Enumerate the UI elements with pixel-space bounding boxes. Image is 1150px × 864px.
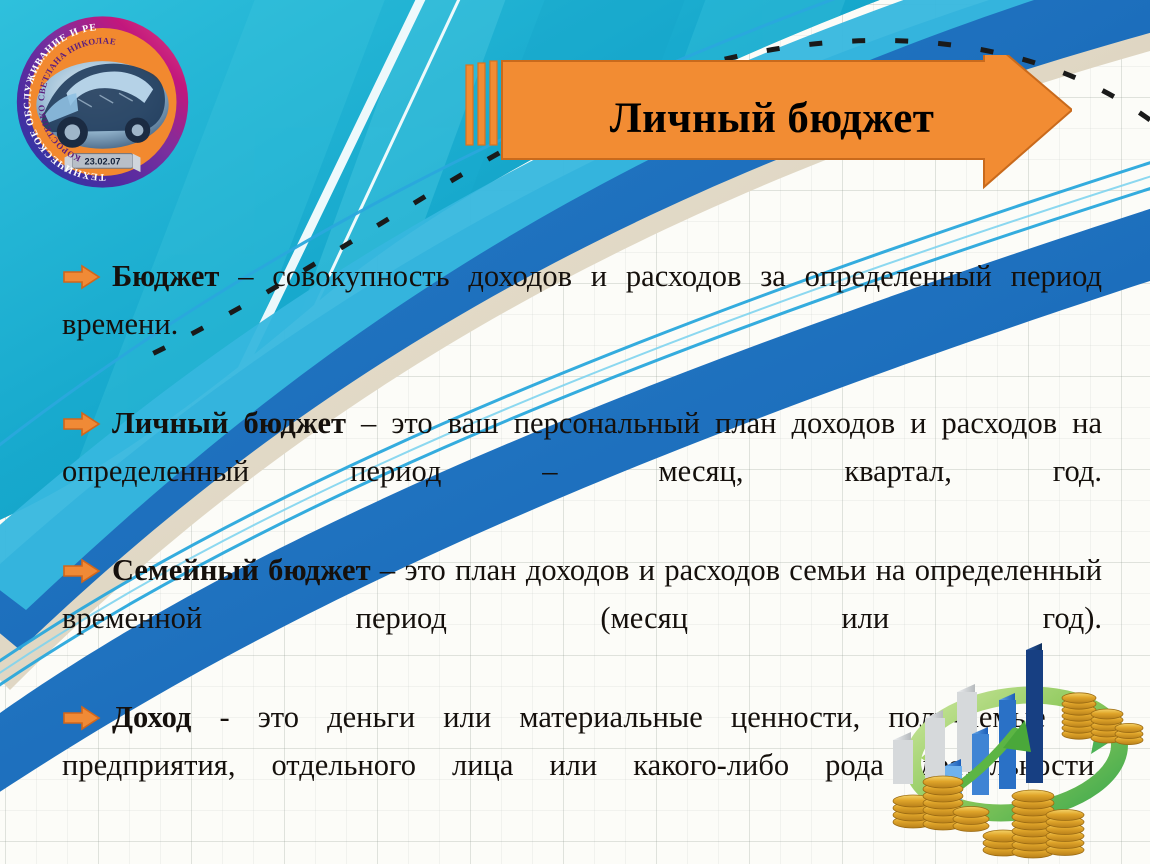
definition-separator: – bbox=[346, 406, 391, 440]
definition-term: Доход bbox=[112, 700, 191, 734]
emblem-logo: 23.02.07 ТЕХНИЧЕСКОЕ ОБСЛУЖИВАНИЕ И РЕМО… bbox=[10, 8, 195, 196]
definition-separator: - bbox=[191, 700, 257, 734]
title-banner: Личный бюджет bbox=[462, 55, 1072, 205]
logo-plate-text: 23.02.07 bbox=[84, 156, 120, 166]
definition-item: Бюджет – совокупность доходов и расходов… bbox=[62, 252, 1102, 396]
arrow-bullet-icon bbox=[62, 697, 102, 723]
definition-term: Бюджет bbox=[112, 259, 219, 293]
definition-separator: – bbox=[371, 553, 405, 587]
arrow-bullet-icon bbox=[62, 550, 102, 576]
money-cycle-illustration bbox=[885, 622, 1147, 862]
coin-stack-right bbox=[1062, 693, 1143, 745]
arrow-bullet-icon bbox=[62, 403, 102, 429]
definition-term: Личный бюджет bbox=[112, 406, 346, 440]
slide-canvas: 23.02.07 ТЕХНИЧЕСКОЕ ОБСЛУЖИВАНИЕ И РЕМО… bbox=[0, 0, 1150, 864]
definition-item: Личный бюджет – это ваш персональный пла… bbox=[62, 399, 1102, 543]
definition-term: Семейный бюджет bbox=[112, 553, 371, 587]
definition-separator: – bbox=[219, 259, 272, 293]
page-title: Личный бюджет bbox=[537, 87, 1007, 149]
gray-bars bbox=[893, 684, 977, 784]
arrow-bullet-icon bbox=[62, 256, 102, 282]
